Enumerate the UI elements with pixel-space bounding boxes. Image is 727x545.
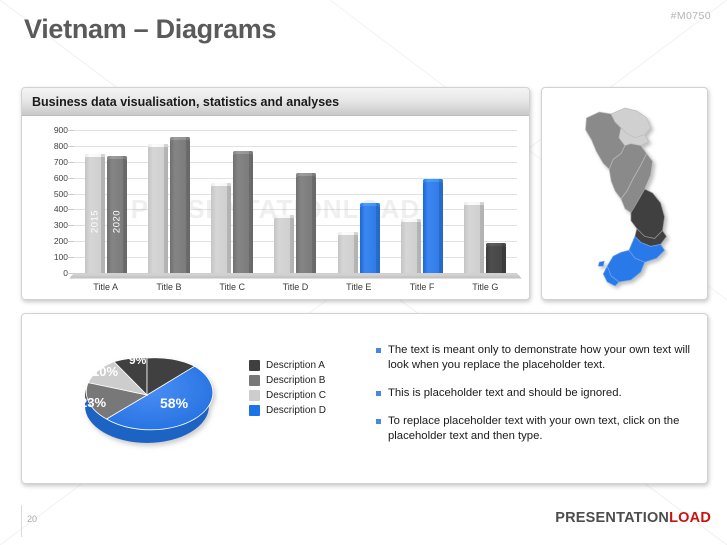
content-panel[interactable]: 58% 23% 10% 9% Description ADescription … xyxy=(21,313,708,484)
legend-label: Description D xyxy=(266,405,326,416)
map-region-phu-quoc xyxy=(598,261,604,266)
bullet-item-1: The text is meant only to demonstrate ho… xyxy=(376,343,692,373)
document-id: #M0750 xyxy=(671,10,711,22)
bar-chart-y-tick-label: 300 xyxy=(32,220,68,230)
bullet-text: This is placeholder text and should be i… xyxy=(388,386,622,401)
bar-chart-y-tick xyxy=(67,225,74,226)
bar-chart-y-tick-label: 700 xyxy=(32,157,68,167)
bar-title-e-2020[interactable] xyxy=(360,206,380,273)
bar-chart-floor xyxy=(69,273,522,279)
brand-logo-part2: LOAD xyxy=(669,510,711,526)
bullet-item-3: To replace placeholder text with your ow… xyxy=(376,414,692,444)
bar-group[interactable] xyxy=(148,130,190,273)
bar-chart-y-axis: 9008007006005004003002001000 xyxy=(32,130,68,273)
legend-label: Description B xyxy=(266,375,325,386)
vietnam-map-regions[interactable] xyxy=(585,108,666,286)
bar-chart-y-tick xyxy=(67,241,74,242)
bar-chart-x-label: Title E xyxy=(335,282,383,292)
slide-footer: 20 PRESENTATIONLOAD xyxy=(0,500,727,545)
bar-title-c-2015[interactable] xyxy=(211,186,231,273)
bar-chart-panel[interactable]: Business data visualisation, statistics … xyxy=(21,87,530,300)
bar-group[interactable] xyxy=(338,130,380,273)
pie-chart-legend[interactable]: Description ADescription BDescription CD… xyxy=(249,360,326,420)
bar-chart-y-tick-label: 900 xyxy=(32,125,68,135)
bar-chart-x-label: Title A xyxy=(82,282,130,292)
bar-chart-body[interactable]: 9008007006005004003002001000 PRESENTATIO… xyxy=(22,116,529,300)
bar-chart-bars[interactable]: 20152020 xyxy=(74,130,517,273)
bar-title-b-2020[interactable] xyxy=(170,140,190,273)
bar-chart-x-label: Title G xyxy=(461,282,509,292)
bullet-text: The text is meant only to demonstrate ho… xyxy=(388,343,692,373)
bar-title-a-2015[interactable]: 2015 xyxy=(85,157,105,273)
bar-series-label-2015: 2015 xyxy=(89,210,100,233)
bar-chart-y-tick xyxy=(67,257,74,258)
bar-chart-panel-header: Business data visualisation, statistics … xyxy=(22,88,529,116)
bar-chart-y-tick-label: 400 xyxy=(32,204,68,214)
legend-item-4[interactable]: Description D xyxy=(249,405,326,416)
bar-group[interactable] xyxy=(401,130,443,273)
bar-title-a-2020[interactable]: 2020 xyxy=(107,159,127,273)
bar-chart-y-tick xyxy=(67,194,74,195)
bar-chart-y-tick-label: 200 xyxy=(32,236,68,246)
legend-swatch-icon xyxy=(249,375,260,386)
bullet-marker-icon xyxy=(376,391,381,396)
bar-group[interactable] xyxy=(211,130,253,273)
bar-group[interactable] xyxy=(274,130,316,273)
legend-swatch-icon xyxy=(249,390,260,401)
bullet-marker-icon xyxy=(376,419,381,424)
bar-chart-y-tick-label: 800 xyxy=(32,141,68,151)
page-title: Vietnam – Diagrams xyxy=(24,14,276,45)
legend-swatch-icon xyxy=(249,360,260,371)
bar-title-b-2015[interactable] xyxy=(148,147,168,273)
legend-swatch-icon xyxy=(249,405,260,416)
bar-chart-y-tick-label: 0 xyxy=(32,268,68,278)
bullet-marker-icon xyxy=(376,348,381,353)
bar-title-f-2015[interactable] xyxy=(401,222,421,273)
pie-chart-svg[interactable] xyxy=(50,332,245,464)
vietnam-map-svg[interactable] xyxy=(542,88,707,299)
legend-label: Description C xyxy=(266,390,326,401)
page-number: 20 xyxy=(27,514,37,524)
bar-chart-y-tick xyxy=(67,130,74,131)
bar-title-f-2020[interactable] xyxy=(423,182,443,273)
legend-item-1[interactable]: Description A xyxy=(249,360,326,371)
bar-chart-y-tick xyxy=(67,209,74,210)
bar-chart-y-tick-label: 100 xyxy=(32,252,68,262)
bar-chart-x-label: Title B xyxy=(145,282,193,292)
brand-logo-part1: PRESENTATION xyxy=(555,510,669,526)
legend-item-3[interactable]: Description C xyxy=(249,390,326,401)
legend-label: Description A xyxy=(266,360,325,371)
bullet-list: The text is meant only to demonstrate ho… xyxy=(376,343,692,457)
bar-title-g-2020[interactable] xyxy=(486,246,506,273)
bar-title-d-2015[interactable] xyxy=(274,218,294,273)
bar-title-e-2015[interactable] xyxy=(338,235,358,273)
bar-title-g-2015[interactable] xyxy=(464,205,484,273)
bar-chart-x-axis: Title ATitle BTitle CTitle DTitle ETitle… xyxy=(74,282,517,292)
vietnam-map-panel[interactable] xyxy=(541,87,708,300)
legend-item-2[interactable]: Description B xyxy=(249,375,326,386)
bar-chart-x-label: Title C xyxy=(208,282,256,292)
bar-group[interactable] xyxy=(464,130,506,273)
bar-chart-y-tick xyxy=(67,146,74,147)
bar-chart-y-tick xyxy=(67,162,74,163)
pie-chart[interactable]: 58% 23% 10% 9% xyxy=(50,332,245,464)
bar-chart-title: Business data visualisation, statistics … xyxy=(32,95,339,109)
bullet-text: To replace placeholder text with your ow… xyxy=(388,414,692,444)
bar-chart-x-label: Title D xyxy=(271,282,319,292)
bar-chart-y-tick-label: 500 xyxy=(32,189,68,199)
bar-chart-x-label: Title F xyxy=(398,282,446,292)
bullet-item-2: This is placeholder text and should be i… xyxy=(376,386,692,401)
footer-divider xyxy=(21,505,22,537)
bar-chart-y-tick-label: 600 xyxy=(32,173,68,183)
bar-title-c-2020[interactable] xyxy=(233,154,253,273)
bar-chart-y-tick xyxy=(67,178,74,179)
bar-group[interactable]: 20152020 xyxy=(85,130,127,273)
bar-title-d-2020[interactable] xyxy=(296,176,316,273)
brand-logo: PRESENTATIONLOAD xyxy=(555,510,711,526)
slide-header: Vietnam – Diagrams #M0750 xyxy=(0,0,727,70)
bar-series-label-2020: 2020 xyxy=(111,210,122,233)
